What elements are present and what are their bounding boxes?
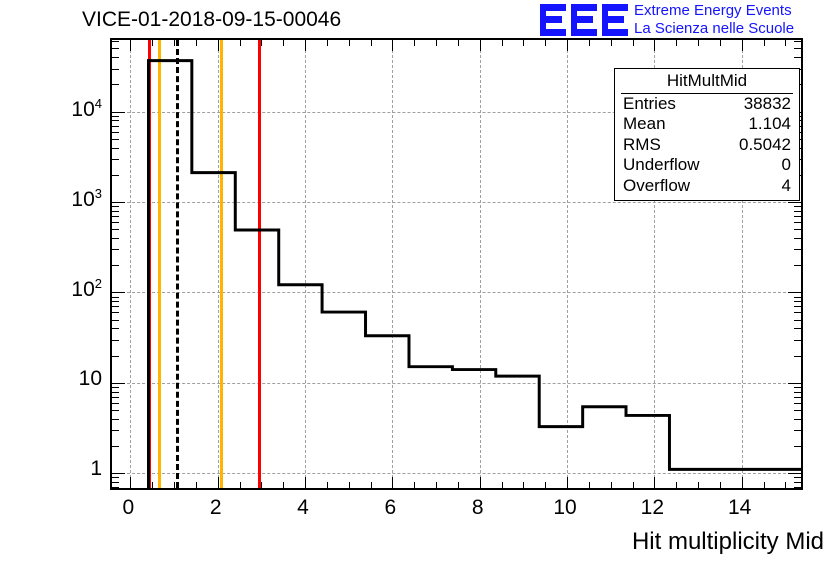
x-axis-minor-tick [283,40,284,46]
x-axis-major-tick [654,40,655,51]
eee-logo-mark [540,4,628,36]
x-axis-minor-tick [174,482,175,488]
y-axis-minor-tick [794,487,801,488]
y-axis-minor-tick [112,211,119,212]
y-axis-minor-tick [794,328,801,329]
x-axis-minor-tick [785,40,786,46]
y-axis-minor-tick [794,229,801,230]
x-axis-minor-tick [720,40,721,46]
y-axis-minor-tick [112,126,119,127]
x-axis-minor-tick [611,482,612,488]
y-axis-minor-tick [112,57,119,58]
stats-row-value: 4 [782,176,791,197]
eee-logo: Extreme Energy Events La Scienza nelle S… [540,2,836,40]
stats-row-key: RMS [623,135,661,156]
y-axis-minor-tick [794,397,801,398]
x-axis-major-tick [567,477,568,488]
x-axis-minor-tick [414,40,415,46]
x-axis-major-tick [218,40,219,51]
y-axis-minor-tick [794,249,801,250]
stats-row: RMS0.5042 [615,135,799,156]
x-axis-minor-tick [458,482,459,488]
x-axis-minor-tick [502,40,503,46]
x-axis-major-tick [392,477,393,488]
y-axis-minor-tick [794,301,801,302]
x-axis-minor-tick [545,40,546,46]
eee-logo-line1: Extreme Energy Events [634,2,794,20]
y-axis-minor-tick [112,159,119,160]
x-axis-minor-tick [720,482,721,488]
x-axis-minor-tick [327,40,328,46]
y-axis-minor-tick [794,482,801,483]
y-axis-minor-tick [794,477,801,478]
x-axis-tick-label: 8 [472,496,484,520]
x-axis-minor-tick [283,482,284,488]
x-axis-tick-label: 4 [297,496,309,520]
y-axis-minor-tick [794,446,801,447]
x-axis-minor-tick [349,40,350,46]
x-axis-minor-tick [327,482,328,488]
y-axis-minor-tick [794,430,801,431]
y-axis-minor-tick [112,419,119,420]
x-axis-minor-tick [152,482,153,488]
y-axis-minor-tick [112,222,119,223]
y-axis-major-tick [112,383,125,384]
x-axis-minor-tick [436,482,437,488]
x-axis-minor-tick [545,482,546,488]
x-axis-minor-tick [589,40,590,46]
y-axis-major-tick [788,202,801,203]
y-axis-major-tick [788,473,801,474]
x-axis-major-tick [480,40,481,51]
x-axis-minor-tick [240,482,241,488]
x-axis-minor-tick [458,40,459,46]
x-axis-minor-tick [785,482,786,488]
y-axis-minor-tick [112,116,119,117]
x-axis-minor-tick [764,40,765,46]
y-axis-minor-tick [112,306,119,307]
y-axis-minor-tick [112,320,119,321]
y-axis-minor-tick [112,487,119,488]
stats-row-value: 0 [782,155,791,176]
x-axis-minor-tick [436,40,437,46]
y-axis-minor-tick [794,57,801,58]
x-axis-minor-tick [589,482,590,488]
x-axis-minor-tick [414,482,415,488]
eee-letter-1-icon [540,4,566,36]
y-axis-minor-tick [794,356,801,357]
x-axis-tick-label: 14 [728,496,751,520]
x-axis-tick-label: 0 [122,496,134,520]
y-axis-minor-tick [112,69,119,70]
y-axis-tick-label: 103 [71,186,102,212]
x-axis-minor-tick [371,40,372,46]
x-axis-minor-tick [261,40,262,46]
eee-letter-2-icon [571,4,597,36]
y-axis-minor-tick [112,206,119,207]
stats-row: Overflow4 [615,176,799,197]
x-axis-minor-tick [502,482,503,488]
x-axis-minor-tick [240,40,241,46]
y-axis-minor-tick [794,320,801,321]
y-axis-major-tick [112,473,125,474]
stats-row: Entries38832 [615,94,799,115]
x-axis-major-tick [742,477,743,488]
y-axis-minor-tick [794,340,801,341]
y-axis-tick-label: 10 [79,367,102,391]
x-axis-title: Hit multiplicity Mid [632,528,824,556]
page-title: VICE-01-2018-09-15-00046 [82,8,341,32]
y-axis-minor-tick [112,238,119,239]
x-axis-minor-tick [764,482,765,488]
stats-row-key: Overflow [623,176,690,197]
stats-row-key: Entries [623,94,676,115]
y-axis-minor-tick [794,387,801,388]
y-axis-major-tick [788,383,801,384]
y-axis-major-tick [112,292,125,293]
x-axis-major-tick [130,40,131,51]
x-axis-minor-tick [261,482,262,488]
y-axis-minor-tick [112,229,119,230]
x-axis-minor-tick [698,40,699,46]
y-axis-minor-tick [112,132,119,133]
x-axis-minor-tick [633,40,634,46]
y-axis-minor-tick [794,410,801,411]
y-axis-minor-tick [794,297,801,298]
y-axis-major-tick [112,202,125,203]
y-axis-minor-tick [112,397,119,398]
stats-box-rows: Entries38832Mean1.104RMS0.5042Underflow0… [615,94,799,197]
y-axis-minor-tick [794,206,801,207]
x-axis-major-tick [654,477,655,488]
y-axis-minor-tick [794,419,801,420]
y-axis-minor-tick [794,403,801,404]
y-axis-minor-tick [112,410,119,411]
x-axis-minor-tick [196,40,197,46]
y-axis-minor-tick [112,477,119,478]
y-axis-minor-tick [112,403,119,404]
y-axis-minor-tick [794,222,801,223]
y-axis-minor-tick [794,238,801,239]
x-axis-minor-tick [523,482,524,488]
stats-row-key: Underflow [623,155,700,176]
x-axis-tick-label: 12 [641,496,664,520]
y-axis-minor-tick [112,387,119,388]
x-axis-tick-label: 2 [210,496,222,520]
y-axis-tick-label: 1 [90,457,102,481]
y-axis-minor-tick [112,297,119,298]
x-axis-minor-tick [196,482,197,488]
y-axis-minor-tick [794,312,801,313]
x-axis-tick-label: 10 [553,496,576,520]
x-axis-minor-tick [633,482,634,488]
stats-row-value: 0.5042 [739,135,791,156]
y-axis-minor-tick [112,301,119,302]
y-axis-major-tick [788,292,801,293]
stats-row: Mean1.104 [615,114,799,135]
x-axis-major-tick [218,477,219,488]
eee-logo-text: Extreme Energy Events La Scienza nelle S… [634,2,794,38]
x-axis-tick-label: 6 [385,496,397,520]
stats-box-title: HitMultMid [621,69,793,94]
y-axis-minor-tick [112,482,119,483]
y-axis-minor-tick [794,265,801,266]
y-axis-minor-tick [112,392,119,393]
x-axis-minor-tick [371,482,372,488]
eee-letter-3-icon [602,4,628,36]
y-axis-minor-tick [112,356,119,357]
y-axis-minor-tick [112,175,119,176]
stats-row-value: 38832 [744,94,791,115]
y-axis-minor-tick [112,48,119,49]
y-axis-minor-tick [112,216,119,217]
y-axis-minor-tick [112,312,119,313]
stats-row: Underflow0 [615,155,799,176]
y-axis-minor-tick [794,392,801,393]
y-axis-minor-tick [112,139,119,140]
x-axis-minor-tick [676,40,677,46]
y-axis-minor-tick [794,41,801,42]
x-axis-minor-tick [523,40,524,46]
stats-row-value: 1.104 [748,114,791,135]
stats-box: HitMultMid Entries38832Mean1.104RMS0.504… [614,68,800,201]
x-axis-minor-tick [611,40,612,46]
x-axis-major-tick [305,477,306,488]
y-axis-minor-tick [112,328,119,329]
x-axis-minor-tick [698,482,699,488]
y-axis-tick-label: 104 [71,96,102,122]
x-axis-major-tick [130,477,131,488]
y-axis-tick-label: 102 [71,276,102,302]
x-axis-major-tick [392,40,393,51]
eee-logo-line2: La Scienza nelle Scuole [634,20,794,38]
y-axis-minor-tick [112,446,119,447]
y-axis-minor-tick [794,211,801,212]
x-axis-major-tick [305,40,306,51]
y-axis-minor-tick [112,340,119,341]
x-axis-minor-tick [174,40,175,46]
y-axis-major-tick [112,112,125,113]
x-axis-major-tick [567,40,568,51]
y-axis-minor-tick [794,306,801,307]
y-axis-minor-tick [112,249,119,250]
y-axis-minor-tick [112,265,119,266]
x-axis-major-tick [742,40,743,51]
y-axis-minor-tick [112,120,119,121]
x-axis-minor-tick [676,482,677,488]
x-axis-major-tick [480,477,481,488]
y-axis-minor-tick [112,41,119,42]
y-axis-minor-tick [794,48,801,49]
y-axis-minor-tick [112,430,119,431]
y-axis-minor-tick [794,216,801,217]
y-axis-minor-tick [112,84,119,85]
stats-row-key: Mean [623,114,666,135]
x-axis-minor-tick [152,40,153,46]
y-axis-minor-tick [112,148,119,149]
x-axis-minor-tick [349,482,350,488]
